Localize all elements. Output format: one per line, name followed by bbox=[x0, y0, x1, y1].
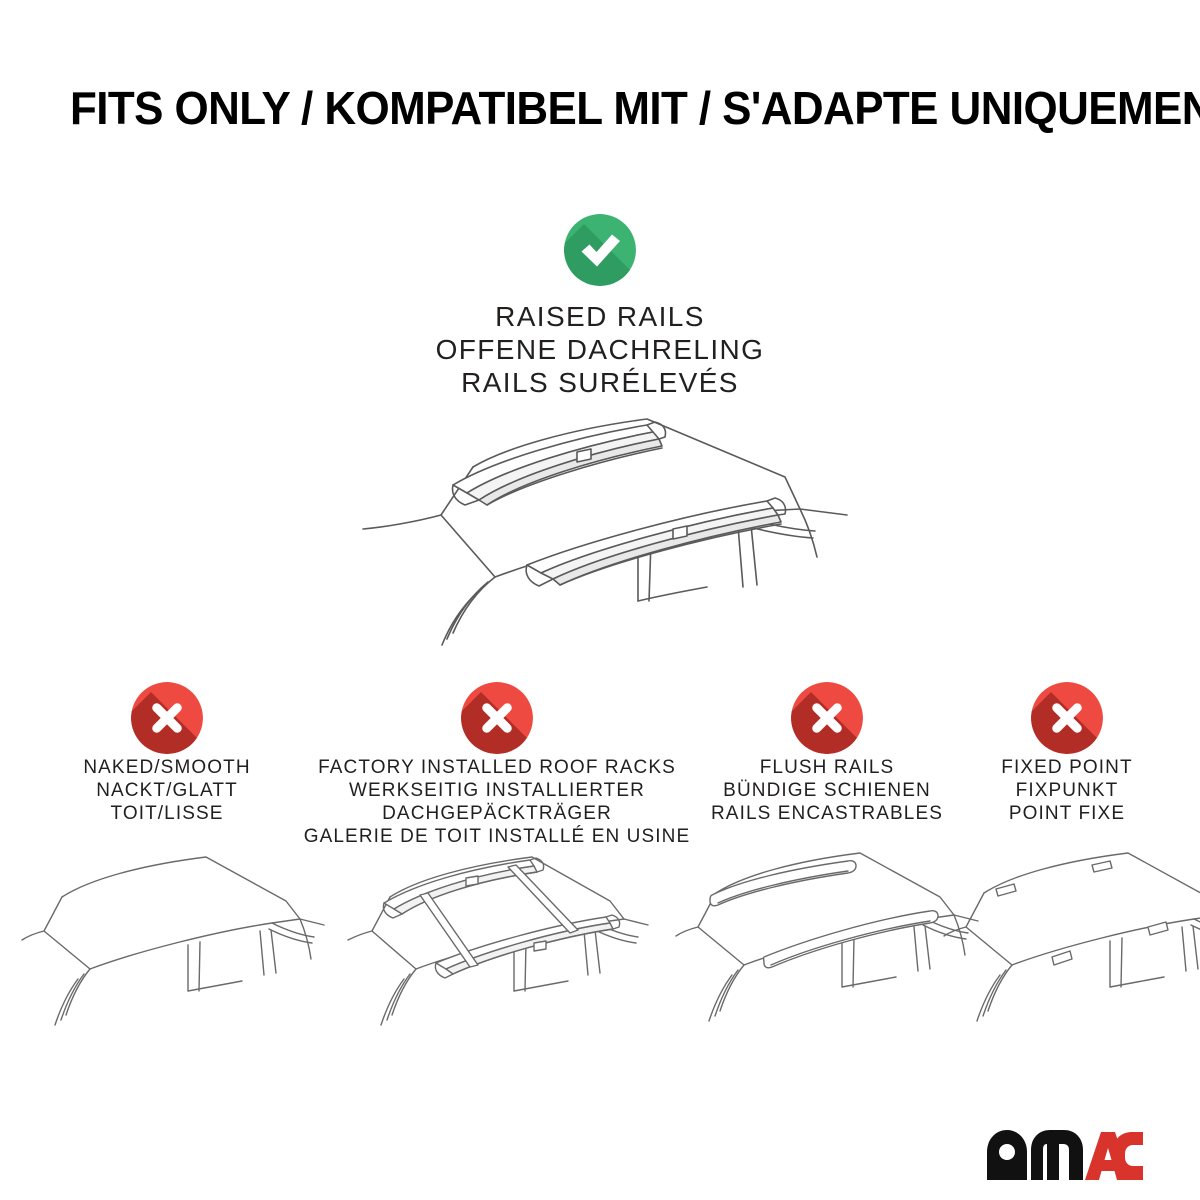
omac-logo bbox=[985, 1128, 1145, 1184]
caption-line: RAISED RAILS bbox=[300, 300, 900, 333]
infographic-page: FITS ONLY / KOMPATIBEL MIT / S'ADAPTE UN… bbox=[0, 0, 1200, 1200]
car-roof-with-factory-crossbars-illustration bbox=[340, 845, 650, 1045]
car-roof-with-flush-rails-illustration bbox=[672, 845, 982, 1045]
caption-line: FLUSH RAILS bbox=[692, 756, 962, 779]
car-roof-naked-smooth-illustration bbox=[18, 845, 328, 1045]
naked-smooth-caption: NAKED/SMOOTH NACKT/GLATT TOIT/LISSE bbox=[42, 756, 292, 825]
caption-line: OFFENE DACHRELING bbox=[300, 333, 900, 366]
caption-line: DACHGEPÄCKTRÄGER bbox=[292, 802, 702, 825]
x-mark-glyph bbox=[131, 682, 203, 754]
caption-line: NAKED/SMOOTH bbox=[42, 756, 292, 779]
title-bar: FITS ONLY / KOMPATIBEL MIT / S'ADAPTE UN… bbox=[70, 84, 1140, 134]
car-roof-with-raised-rails-illustration bbox=[355, 405, 855, 670]
x-mark-glyph bbox=[1031, 682, 1103, 754]
caption-line: RAILS SURÉLEVÉS bbox=[300, 366, 900, 399]
x-circle-icon bbox=[1031, 682, 1103, 754]
x-circle-icon bbox=[791, 682, 863, 754]
car-roof-with-fixed-points-illustration bbox=[940, 845, 1200, 1045]
x-mark-glyph bbox=[791, 682, 863, 754]
caption-line: TOIT/LISSE bbox=[42, 802, 292, 825]
caption-line: FIXPUNKT bbox=[952, 779, 1182, 802]
caption-line: NACKT/GLATT bbox=[42, 779, 292, 802]
compatible-caption: RAISED RAILS OFFENE DACHRELING RAILS SUR… bbox=[300, 300, 900, 399]
caption-line: POINT FIXE bbox=[952, 802, 1182, 825]
x-circle-icon bbox=[131, 682, 203, 754]
caption-line: BÜNDIGE SCHIENEN bbox=[692, 779, 962, 802]
check-mark-glyph bbox=[564, 214, 636, 286]
fixed-point-caption: FIXED POINT FIXPUNKT POINT FIXE bbox=[952, 756, 1182, 825]
factory-installed-roof-racks-caption: FACTORY INSTALLED ROOF RACKS WERKSEITIG … bbox=[292, 756, 702, 848]
flush-rails-caption: FLUSH RAILS BÜNDIGE SCHIENEN RAILS ENCAS… bbox=[692, 756, 962, 825]
caption-line: WERKSEITIG INSTALLIERTER bbox=[292, 779, 702, 802]
caption-line: FACTORY INSTALLED ROOF RACKS bbox=[292, 756, 702, 779]
page-title: FITS ONLY / KOMPATIBEL MIT / S'ADAPTE UN… bbox=[70, 84, 1092, 132]
caption-line: FIXED POINT bbox=[952, 756, 1182, 779]
caption-line: RAILS ENCASTRABLES bbox=[692, 802, 962, 825]
check-circle-icon bbox=[564, 214, 636, 286]
x-mark-glyph bbox=[461, 682, 533, 754]
x-circle-icon bbox=[461, 682, 533, 754]
